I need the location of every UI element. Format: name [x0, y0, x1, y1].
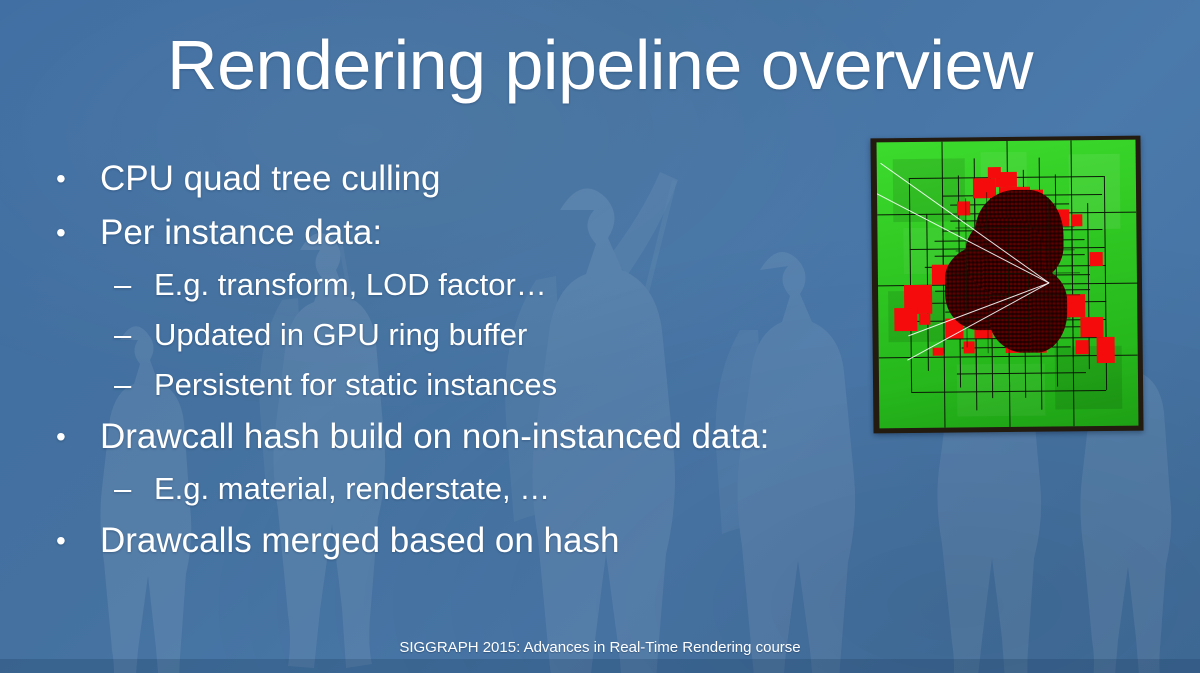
dash-marker-icon: – [114, 360, 154, 410]
bullet-marker-icon: • [56, 206, 100, 260]
list-item: • CPU quad tree culling [56, 152, 876, 206]
list-item-label: Drawcalls merged based on hash [100, 514, 876, 568]
bullet-marker-icon: • [56, 514, 100, 568]
list-item: – Persistent for static instances [56, 360, 876, 410]
dash-marker-icon: – [114, 260, 154, 310]
list-item-label: E.g. transform, LOD factor… [154, 260, 876, 310]
list-item: – E.g. transform, LOD factor… [56, 260, 876, 310]
list-item: – E.g. material, renderstate, … [56, 464, 876, 514]
dash-marker-icon: – [114, 464, 154, 514]
list-item-label: Drawcall hash build on non-instanced dat… [100, 410, 876, 464]
list-item-label: CPU quad tree culling [100, 152, 876, 206]
bullet-marker-icon: • [56, 410, 100, 464]
footer-text: SIGGRAPH 2015: Advances in Real-Time Ren… [0, 637, 1200, 659]
list-item-label: Persistent for static instances [154, 360, 876, 410]
list-item: • Drawcall hash build on non-instanced d… [56, 410, 876, 464]
quad-tree-culling-image [870, 136, 1143, 434]
quad-tree-canvas [877, 140, 1139, 429]
bullet-marker-icon: • [56, 152, 100, 206]
dash-marker-icon: – [114, 310, 154, 360]
presentation-slide: Rendering pipeline overview • CPU quad t… [0, 0, 1200, 673]
list-item: • Per instance data: [56, 206, 876, 260]
list-item-label: E.g. material, renderstate, … [154, 464, 876, 514]
slide-title: Rendering pipeline overview [0, 26, 1200, 104]
footer-band [0, 659, 1200, 673]
list-item-label: Updated in GPU ring buffer [154, 310, 876, 360]
bullet-list: • CPU quad tree culling • Per instance d… [56, 152, 876, 568]
list-item-label: Per instance data: [100, 206, 876, 260]
list-item: – Updated in GPU ring buffer [56, 310, 876, 360]
list-item: • Drawcalls merged based on hash [56, 514, 876, 568]
